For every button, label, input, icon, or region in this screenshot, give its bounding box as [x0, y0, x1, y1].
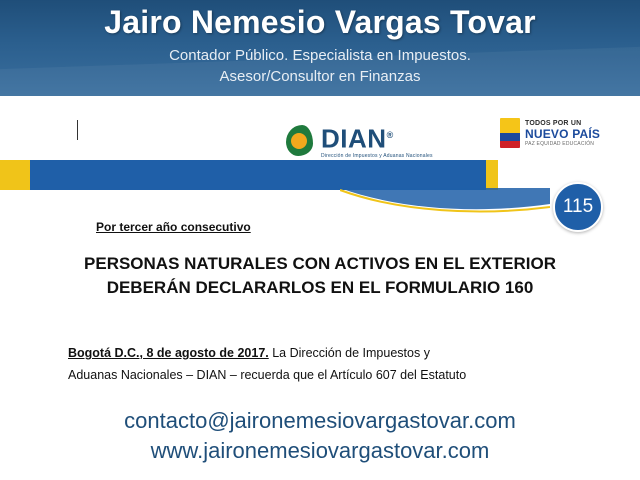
document-kicker: Por tercer año consecutivo [96, 220, 251, 234]
press-release-document: DIAN® Dirección de Impuestos y Aduanas N… [0, 96, 640, 400]
registered-mark: ® [387, 130, 394, 140]
government-logo: TODOS POR UN NUEVO PAÍS PAZ EQUIDAD EDUC… [500, 118, 600, 148]
issue-number-badge: 115 [553, 182, 603, 232]
dian-wordmark: DIAN® [321, 122, 433, 152]
slide-root: Jairo Nemesio Vargas Tovar Contador Públ… [0, 0, 640, 480]
contact-footer: contacto@jaironemesiovargastovar.com www… [0, 400, 640, 480]
comunicado-label: Comunicado de prensa [0, 102, 640, 120]
gov-logo-line-3: PAZ EQUIDAD EDUCACIÓN [525, 141, 600, 148]
contact-website[interactable]: www.jaironemesiovargastovar.com [0, 438, 640, 464]
comunicado-band [0, 160, 640, 190]
dian-tagline: Dirección de Impuestos y Aduanas Naciona… [321, 153, 433, 159]
header-subtitle-1: Contador Público. Especialista en Impues… [0, 47, 640, 64]
page-title: Jairo Nemesio Vargas Tovar [0, 4, 640, 41]
band-accent-right [486, 160, 498, 190]
text-cursor [77, 120, 78, 140]
paragraph-line-2: Aduanas Nacionales – DIAN – recuerda que… [68, 364, 574, 386]
contact-email[interactable]: contacto@jaironemesiovargastovar.com [0, 408, 640, 434]
paragraph-lead-rest: La Dirección de Impuestos y [269, 346, 430, 360]
band-swoosh-decoration [340, 188, 550, 218]
page-header: Jairo Nemesio Vargas Tovar Contador Públ… [0, 0, 640, 96]
comunicado-word: Comunicado [235, 102, 329, 119]
band-accent-left [0, 160, 30, 190]
gov-logo-line-2: NUEVO PAÍS [525, 128, 600, 141]
colombia-flag-icon [500, 118, 520, 148]
header-subtitle-2: Asesor/Consultor en Finanzas [0, 68, 640, 85]
document-headline: PERSONAS NATURALES CON ACTIVOS EN EL EXT… [60, 252, 580, 300]
de-prensa-word: de prensa [329, 102, 405, 119]
document-paragraph: Bogotá D.C., 8 de agosto de 2017. La Dir… [68, 342, 574, 386]
dian-logo: DIAN® Dirección de Impuestos y Aduanas N… [282, 122, 433, 159]
dian-sun-icon [282, 124, 316, 158]
paragraph-dateline: Bogotá D.C., 8 de agosto de 2017. [68, 346, 269, 360]
